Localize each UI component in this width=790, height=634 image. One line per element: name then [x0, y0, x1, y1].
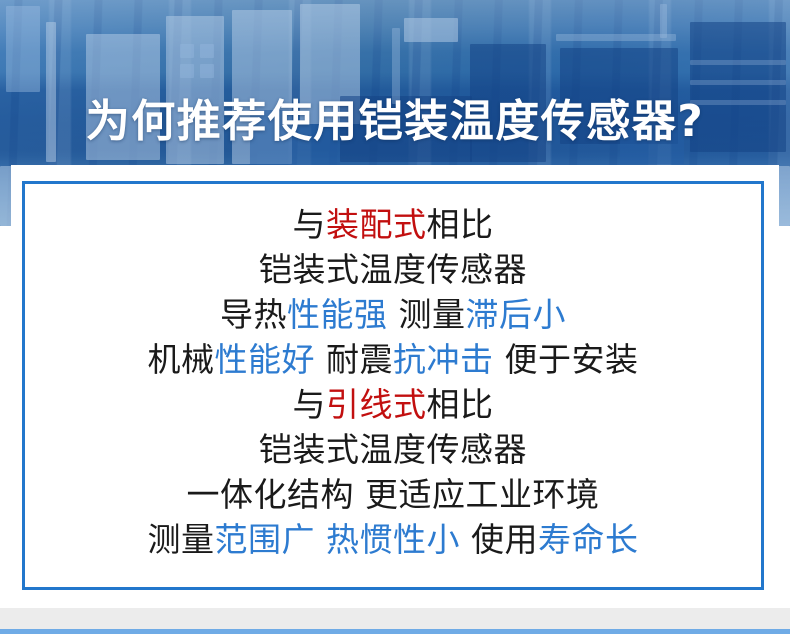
feature-text-segment: 性能好	[215, 340, 316, 379]
feature-text-segment: 性能强	[287, 295, 388, 334]
feature-text-segment	[315, 520, 326, 559]
feature-text-segment: 耐震	[315, 340, 393, 379]
feature-line-integrated-structure: 一体化结构 更适应工业环境	[25, 472, 761, 517]
feature-line-list: 与装配式相比铠装式温度传感器导热性能强 测量滞后小机械性能好 耐震抗冲击 便于安…	[25, 202, 761, 562]
feature-line-thermal-advantages: 导热性能强 测量滞后小	[25, 292, 761, 337]
feature-text-segment: 导热	[220, 295, 287, 334]
feature-text-segment: 寿命长	[538, 520, 639, 559]
product-detail-page: 为何推荐使用铠装温度传感器? 与装配式相比铠装式温度传感器导热性能强 测量滞后小…	[0, 0, 790, 634]
feature-line-mechanical-advantages: 机械性能好 耐震抗冲击 便于安装	[25, 337, 761, 382]
feature-line-compare-assembled: 与装配式相比	[25, 202, 761, 247]
feature-line-compare-leadwire: 与引线式相比	[25, 382, 761, 427]
feature-text-segment: 铠装式温度传感器	[259, 250, 527, 289]
feature-text-segment: 热惯性小	[326, 520, 460, 559]
footer-blue-band	[0, 629, 790, 634]
feature-text-segment: 相比	[427, 385, 494, 424]
feature-text-segment: 测量	[388, 295, 466, 334]
feature-text-segment: 相比	[427, 205, 494, 244]
feature-text-segment: 使用	[460, 520, 538, 559]
feature-line-measurement-advantages: 测量范围广 热惯性小 使用寿命长	[25, 517, 761, 562]
feature-text-segment: 滞后小	[466, 295, 567, 334]
feature-text-segment: 机械	[148, 340, 215, 379]
feature-text-segment: 抗冲击	[393, 340, 494, 379]
feature-text-segment: 便于安装	[494, 340, 639, 379]
feature-line-product-name-2: 铠装式温度传感器	[25, 427, 761, 472]
feature-text-segment: 一体化结构 更适应工业环境	[187, 475, 600, 514]
feature-text-segment: 范围广	[215, 520, 316, 559]
feature-text-segment: 与	[293, 205, 327, 244]
page-title: 为何推荐使用铠装温度传感器?	[0, 29, 790, 145]
feature-text-segment: 装配式	[326, 205, 427, 244]
feature-box: 与装配式相比铠装式温度传感器导热性能强 测量滞后小机械性能好 耐震抗冲击 便于安…	[22, 181, 764, 590]
footer-gray-band	[0, 608, 790, 629]
feature-text-segment: 与	[293, 385, 327, 424]
feature-line-product-name-1: 铠装式温度传感器	[25, 247, 761, 292]
feature-text-segment: 引线式	[326, 385, 427, 424]
feature-text-segment: 铠装式温度传感器	[259, 430, 527, 469]
feature-text-segment: 测量	[148, 520, 215, 559]
content-panel: 与装配式相比铠装式温度传感器导热性能强 测量滞后小机械性能好 耐震抗冲击 便于安…	[11, 165, 779, 608]
